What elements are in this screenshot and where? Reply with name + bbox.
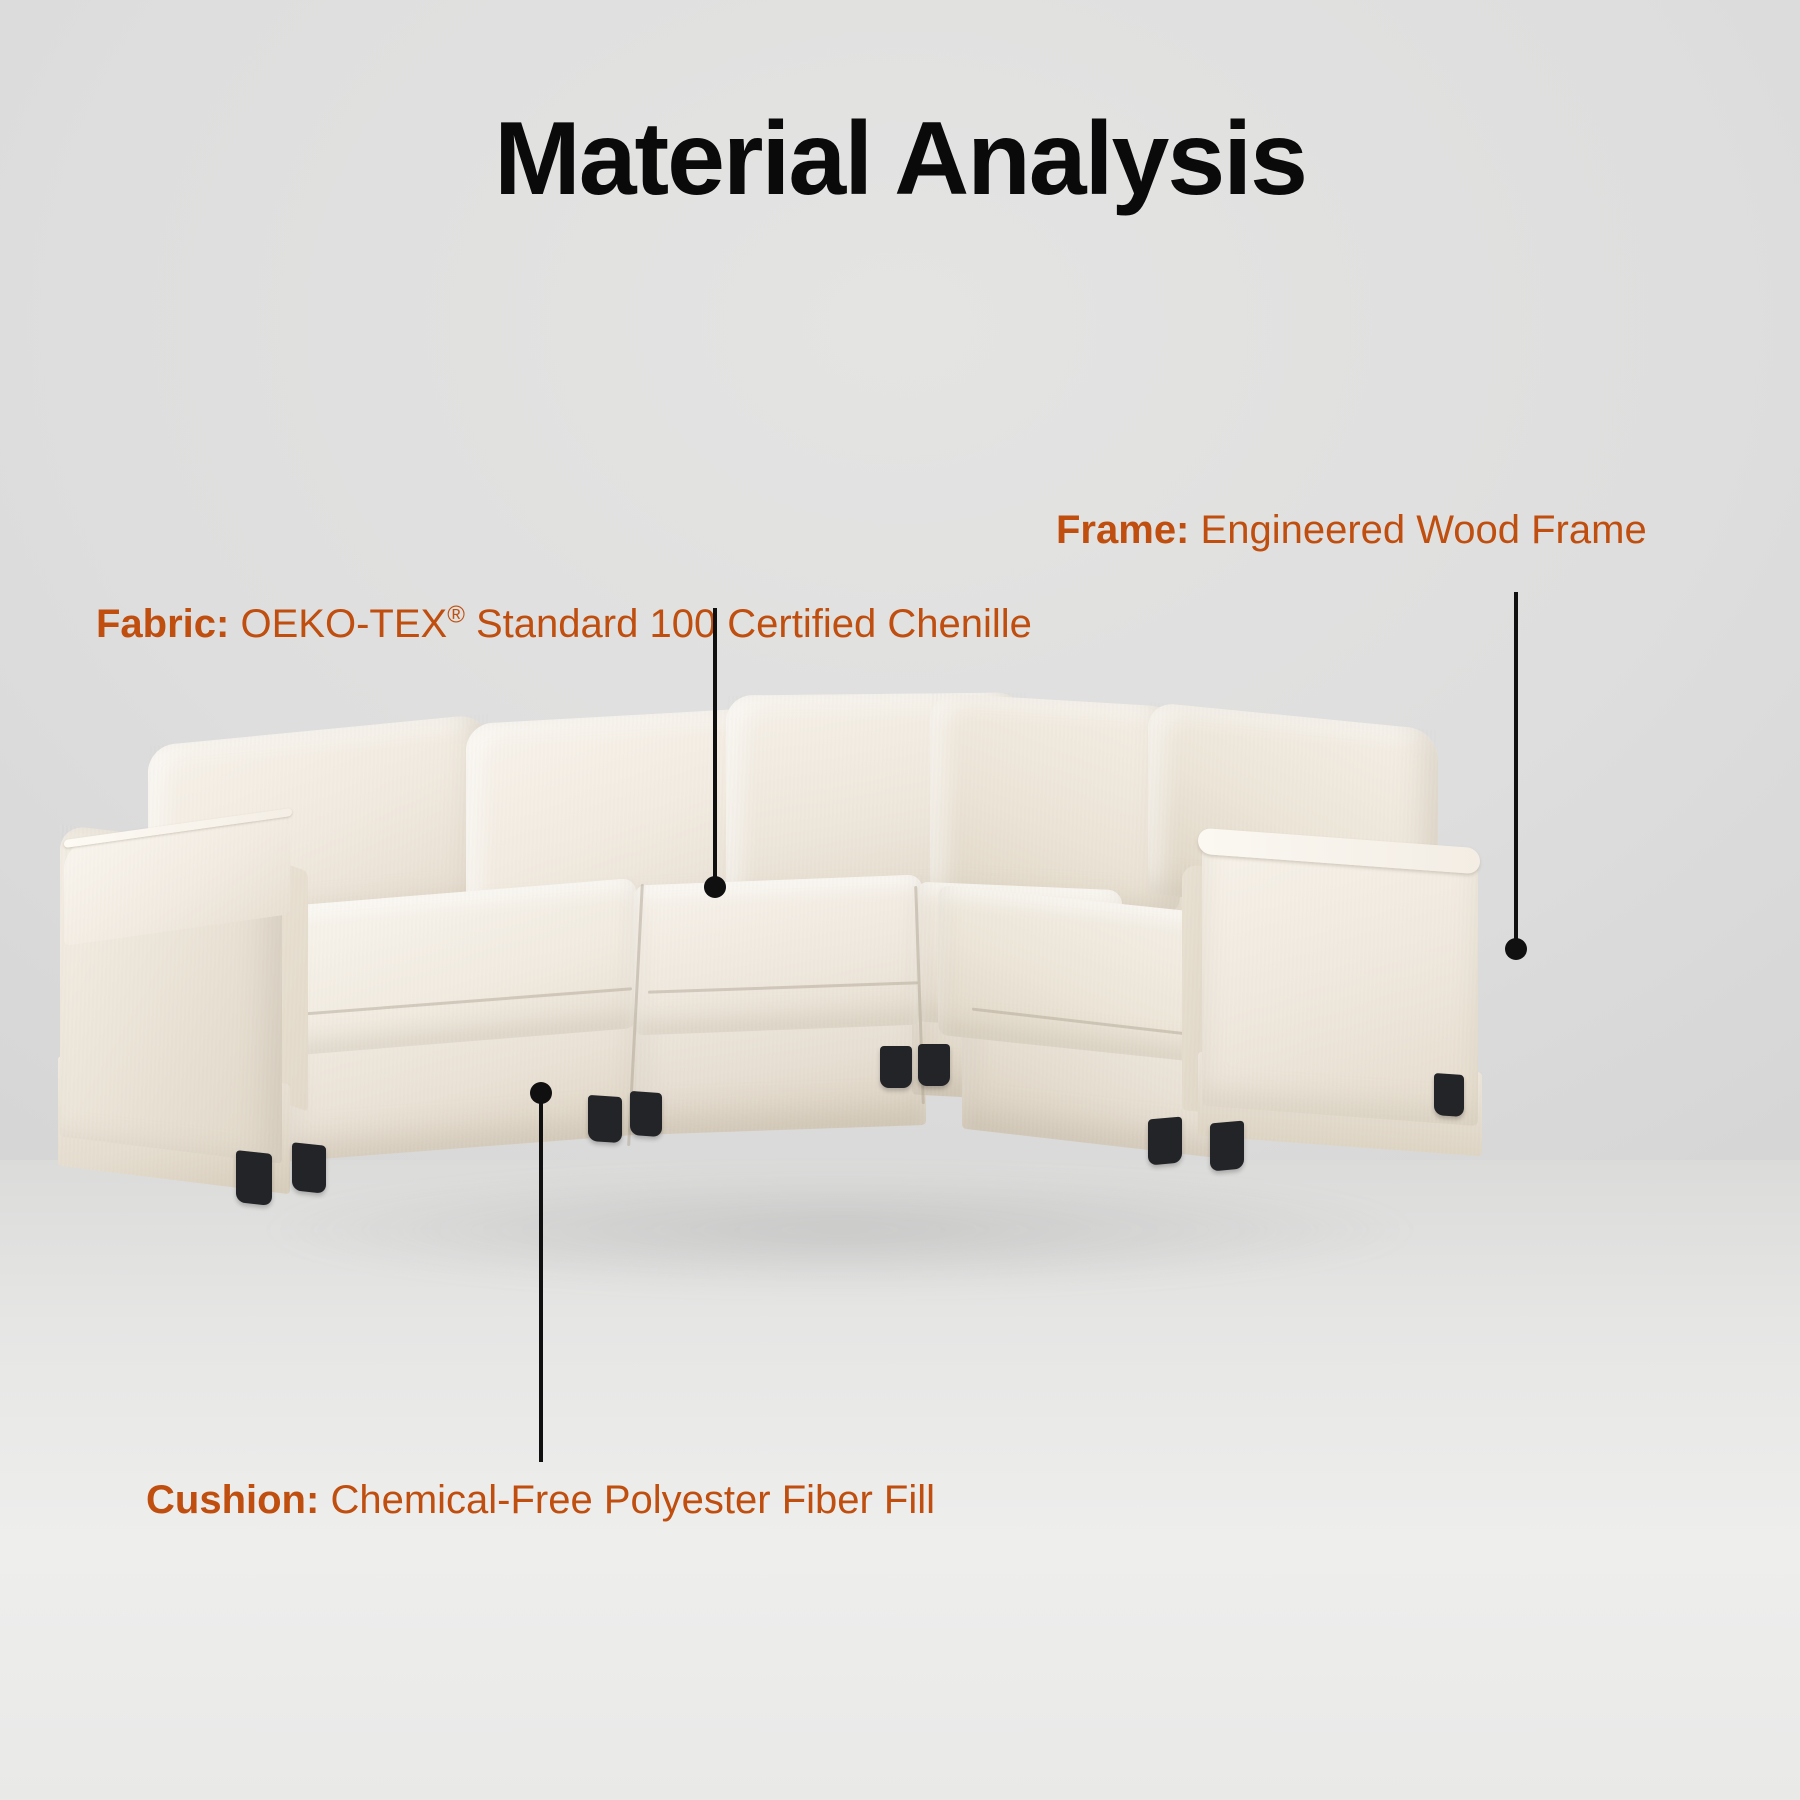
- registered-trademark-icon: ®: [447, 602, 465, 629]
- leader-dot-cushion: [530, 1082, 552, 1104]
- callout-cushion-value: Chemical-Free Polyester Fiber Fill: [330, 1478, 935, 1522]
- leader-line-cushion: [539, 1100, 543, 1462]
- sectional-sofa-image: [0, 0, 1800, 1800]
- sofa-back-panel-right: [908, 777, 1208, 943]
- callout-frame-value: Engineered Wood Frame: [1201, 508, 1647, 552]
- sofa-base-right: [962, 1000, 1230, 1159]
- right-arm-piping: [1198, 828, 1480, 875]
- sofa-leg: [1434, 1073, 1464, 1117]
- left-arm-inner-panel: [222, 840, 308, 1111]
- sofa-base-left: [288, 988, 640, 1161]
- sofa-leg: [292, 1142, 326, 1194]
- seat-cushion-corner: [916, 882, 1122, 1031]
- seat-cushion-1: [286, 878, 636, 1056]
- callout-fabric-key: Fabric:: [96, 602, 229, 646]
- sofa-leg: [1210, 1121, 1244, 1172]
- sofa-base-middle: [636, 983, 926, 1135]
- leader-line-frame: [1514, 592, 1518, 948]
- sofa-base-corner: [912, 972, 1124, 1105]
- sofa-leg: [1148, 1117, 1182, 1166]
- callout-fabric: Fabric: OEKO-TEX® Standard 100 Certified…: [96, 602, 1032, 646]
- cushion-seam-2: [914, 886, 925, 1104]
- sofa-leg: [630, 1091, 662, 1137]
- leader-dot-fabric: [704, 876, 726, 898]
- page-title: Material Analysis: [0, 104, 1800, 214]
- material-analysis-infographic: Material Analysis Frame: Engineered Wood…: [0, 0, 1800, 1800]
- sofa-leg: [588, 1095, 622, 1143]
- base-seam-2: [648, 981, 918, 993]
- base-seam-1: [300, 987, 632, 1016]
- sofa-leg: [918, 1044, 950, 1086]
- leader-line-fabric: [713, 608, 717, 886]
- sofa-back-panel-left: [272, 777, 932, 953]
- callout-cushion: Cushion: Chemical-Free Polyester Fiber F…: [146, 1478, 935, 1522]
- sofa-leg: [236, 1150, 272, 1206]
- left-arm-top: [64, 810, 290, 946]
- seat-cushion-3: [938, 885, 1228, 1065]
- sofa-leg: [880, 1046, 912, 1088]
- back-cushion-4: [930, 693, 1180, 916]
- sofa-ground-shadow: [60, 1150, 1620, 1310]
- left-arm-piping: [64, 808, 292, 848]
- right-arm-inner-panel: [1182, 864, 1222, 1114]
- callout-fabric-value-pre: OEKO-TEX: [240, 602, 447, 646]
- back-cushion-1: [148, 714, 488, 937]
- right-arm-outer-panel: [1202, 838, 1478, 1126]
- callout-cushion-key: Cushion:: [146, 1478, 319, 1522]
- left-arm-outer-panel: [60, 824, 282, 1163]
- seat-cushion-2: [634, 874, 922, 1035]
- callout-frame-key: Frame:: [1056, 508, 1189, 552]
- cushion-seam-1: [627, 884, 644, 1146]
- back-cushion-3: [726, 692, 1026, 909]
- left-arm-base: [58, 1056, 290, 1194]
- leader-dot-frame: [1505, 938, 1527, 960]
- back-cushion-5: [1148, 702, 1438, 922]
- base-seam-3: [972, 1008, 1222, 1040]
- right-arm-base: [1198, 1052, 1482, 1157]
- callout-frame: Frame: Engineered Wood Frame: [1056, 508, 1647, 552]
- callout-fabric-value-post: Standard 100 Certified Chenille: [465, 602, 1032, 646]
